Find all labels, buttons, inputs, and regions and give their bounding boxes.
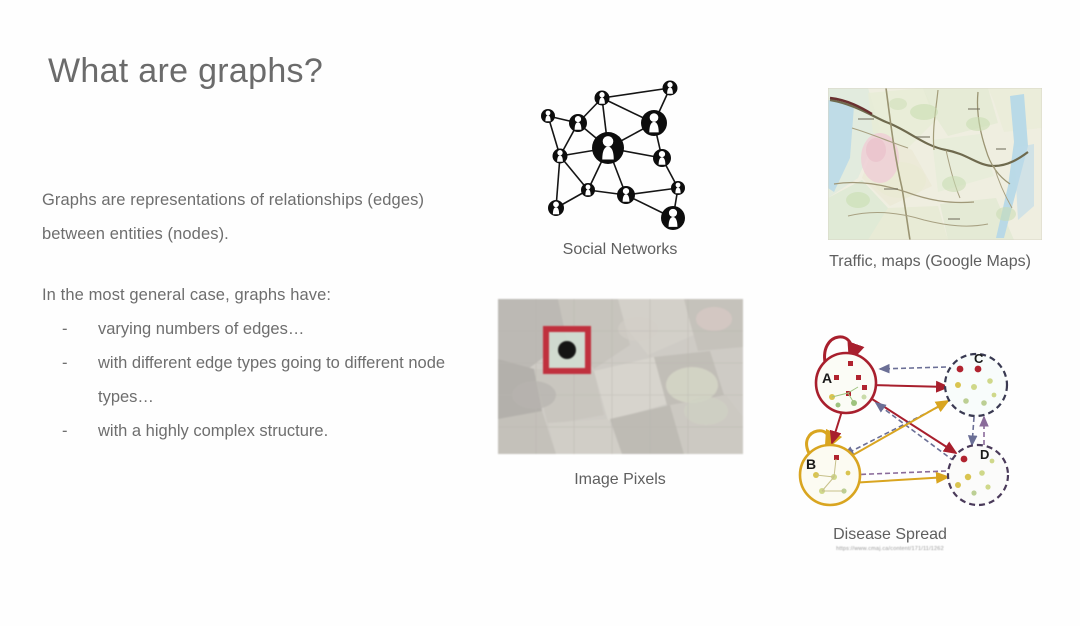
pixel-node-dot xyxy=(558,341,576,359)
disease-spread-figure: A B xyxy=(788,325,1033,520)
pixel-image-content xyxy=(498,299,743,454)
bullet-list: - varying numbers of edges… - with diffe… xyxy=(62,312,482,448)
page-title: What are graphs? xyxy=(48,52,323,91)
list-item: - with different edge types going to dif… xyxy=(62,346,482,414)
general-case-line: In the most general case, graphs have: xyxy=(42,278,472,312)
intro-paragraph: Graphs are representations of relationsh… xyxy=(42,183,472,251)
list-item: - with a highly complex structure. xyxy=(62,414,482,448)
slide-canvas: What are graphs? Graphs are representati… xyxy=(0,0,1080,626)
node-d-label: D xyxy=(980,447,989,462)
disease-node-b: B xyxy=(800,445,860,505)
disease-node-a: A xyxy=(816,353,876,413)
disease-spread-source-url[interactable]: https://www.cmaj.ca/content/171/11/1262 xyxy=(790,546,990,552)
social-network-caption: Social Networks xyxy=(512,241,728,259)
list-item: - varying numbers of edges… xyxy=(62,312,482,346)
map-caption: Traffic, maps (Google Maps) xyxy=(790,253,1070,271)
node-c-label: C xyxy=(974,351,984,366)
bullet-text: with a highly complex structure. xyxy=(98,422,328,440)
image-pixels-figure xyxy=(498,299,743,454)
bullet-text: with different edge types going to diffe… xyxy=(98,354,445,406)
social-network-figure xyxy=(530,78,710,236)
bullet-marker: - xyxy=(62,414,68,448)
node-a-label: A xyxy=(822,370,832,386)
disease-node-d: D xyxy=(948,445,1008,505)
disease-node-c: C xyxy=(945,351,1007,416)
image-pixels-caption: Image Pixels xyxy=(500,471,740,489)
bullet-text: varying numbers of edges… xyxy=(98,320,304,338)
node-b-label: B xyxy=(806,456,816,472)
bullet-marker: - xyxy=(62,346,68,380)
bullet-marker: - xyxy=(62,312,68,346)
map-thumbnail-figure xyxy=(828,88,1042,240)
disease-spread-caption: Disease Spread xyxy=(790,526,990,544)
